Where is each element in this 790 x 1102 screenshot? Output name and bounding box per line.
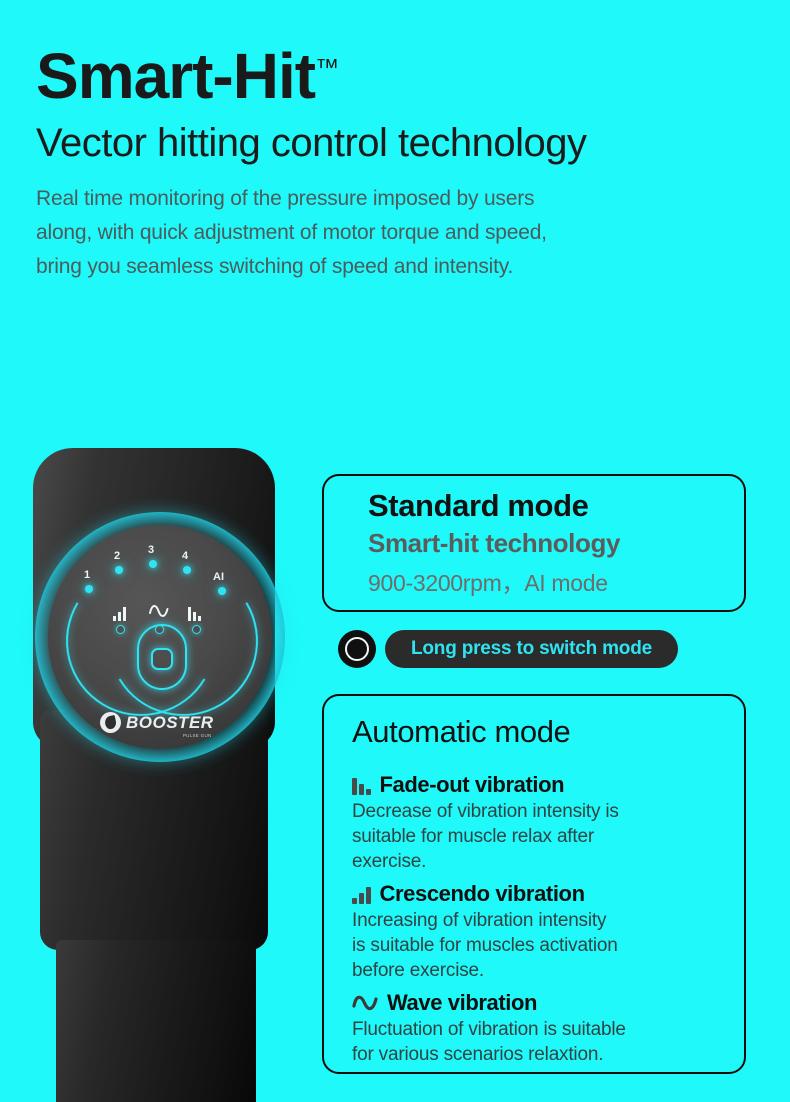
press-button-icon bbox=[338, 630, 376, 668]
crescendo-desc-line-2: is suitable for muscles activation bbox=[352, 933, 722, 958]
page-subtitle: Vector hitting control technology bbox=[36, 120, 776, 166]
page-title: Smart-Hit™ bbox=[36, 44, 339, 108]
description-line-1: Real time monitoring of the pressure imp… bbox=[36, 182, 776, 216]
page-title-text: Smart-Hit bbox=[36, 40, 315, 112]
fade-out-bars-icon bbox=[352, 776, 371, 795]
automatic-mode-panel: Automatic mode Fade-out vibration Decrea… bbox=[322, 694, 746, 1074]
standard-mode-subtitle: Smart-hit technology bbox=[368, 528, 620, 559]
feature-crescendo-desc: Increasing of vibration intensity is sui… bbox=[352, 908, 722, 983]
fade-out-desc-line-2: suitable for muscle relax after bbox=[352, 824, 722, 849]
header: Smart-Hit™ Vector hitting control techno… bbox=[36, 44, 776, 284]
brand-name: BOOSTER bbox=[126, 713, 214, 732]
feature-fade-out-header: Fade-out vibration bbox=[352, 772, 722, 798]
feature-crescendo: Crescendo vibration Increasing of vibrat… bbox=[352, 881, 722, 983]
fade-out-desc-line-1: Decrease of vibration intensity is bbox=[352, 799, 722, 824]
long-press-pill[interactable]: Long press to switch mode bbox=[385, 630, 678, 668]
wave-desc-line-1: Fluctuation of vibration is suitable bbox=[352, 1017, 722, 1042]
press-button-square bbox=[353, 645, 362, 654]
feature-fade-out-name: Fade-out vibration bbox=[380, 772, 565, 798]
booster-emblem-icon bbox=[100, 712, 121, 733]
crescendo-desc-line-3: before exercise. bbox=[352, 958, 722, 983]
crescendo-desc-line-1: Increasing of vibration intensity bbox=[352, 908, 722, 933]
crescendo-bars-icon bbox=[352, 885, 371, 904]
fade-out-desc-line-3: exercise. bbox=[352, 849, 722, 874]
massage-gun-device: 1 2 3 4 AI bbox=[0, 440, 320, 1102]
brand-logo: BOOSTER PULSE GUN bbox=[100, 712, 214, 733]
trademark-symbol: ™ bbox=[315, 55, 339, 82]
feature-wave-name: Wave vibration bbox=[387, 990, 537, 1016]
led-label-1: 1 bbox=[84, 569, 90, 581]
led-label-4: 4 bbox=[182, 550, 188, 562]
feature-crescendo-name: Crescendo vibration bbox=[380, 881, 585, 907]
led-label-2: 2 bbox=[114, 550, 120, 562]
description-line-2: along, with quick adjustment of motor to… bbox=[36, 216, 776, 250]
promo-page: Smart-Hit™ Vector hitting control techno… bbox=[0, 0, 790, 1102]
feature-wave-header: Wave vibration bbox=[352, 990, 722, 1016]
brand-subtitle: PULSE GUN bbox=[183, 733, 212, 738]
feature-crescendo-header: Crescendo vibration bbox=[352, 881, 722, 907]
wave-icon bbox=[352, 993, 378, 1013]
feature-fade-out-desc: Decrease of vibration intensity is suita… bbox=[352, 799, 722, 874]
feature-wave-desc: Fluctuation of vibration is suitable for… bbox=[352, 1017, 722, 1067]
wave-desc-line-2: for various scenarios relaxtion. bbox=[352, 1042, 722, 1067]
press-button-ring bbox=[345, 637, 369, 661]
header-description: Real time monitoring of the pressure imp… bbox=[36, 182, 776, 284]
standard-mode-spec: 900-3200rpm，AI mode bbox=[368, 564, 608, 598]
standard-mode-panel: Standard mode Smart-hit technology 900-3… bbox=[322, 474, 746, 612]
feature-wave: Wave vibration Fluctuation of vibration … bbox=[352, 990, 722, 1067]
power-button-glyph bbox=[151, 648, 173, 670]
led-label-3: 3 bbox=[148, 544, 154, 556]
description-line-3: bring you seamless switching of speed an… bbox=[36, 250, 776, 284]
long-press-hint[interactable]: Long press to switch mode bbox=[338, 630, 678, 668]
long-press-label: Long press to switch mode bbox=[411, 638, 652, 660]
device-handle bbox=[56, 940, 256, 1102]
automatic-mode-title: Automatic mode bbox=[352, 714, 570, 750]
feature-fade-out: Fade-out vibration Decrease of vibration… bbox=[352, 772, 722, 874]
standard-mode-title: Standard mode bbox=[368, 488, 588, 524]
